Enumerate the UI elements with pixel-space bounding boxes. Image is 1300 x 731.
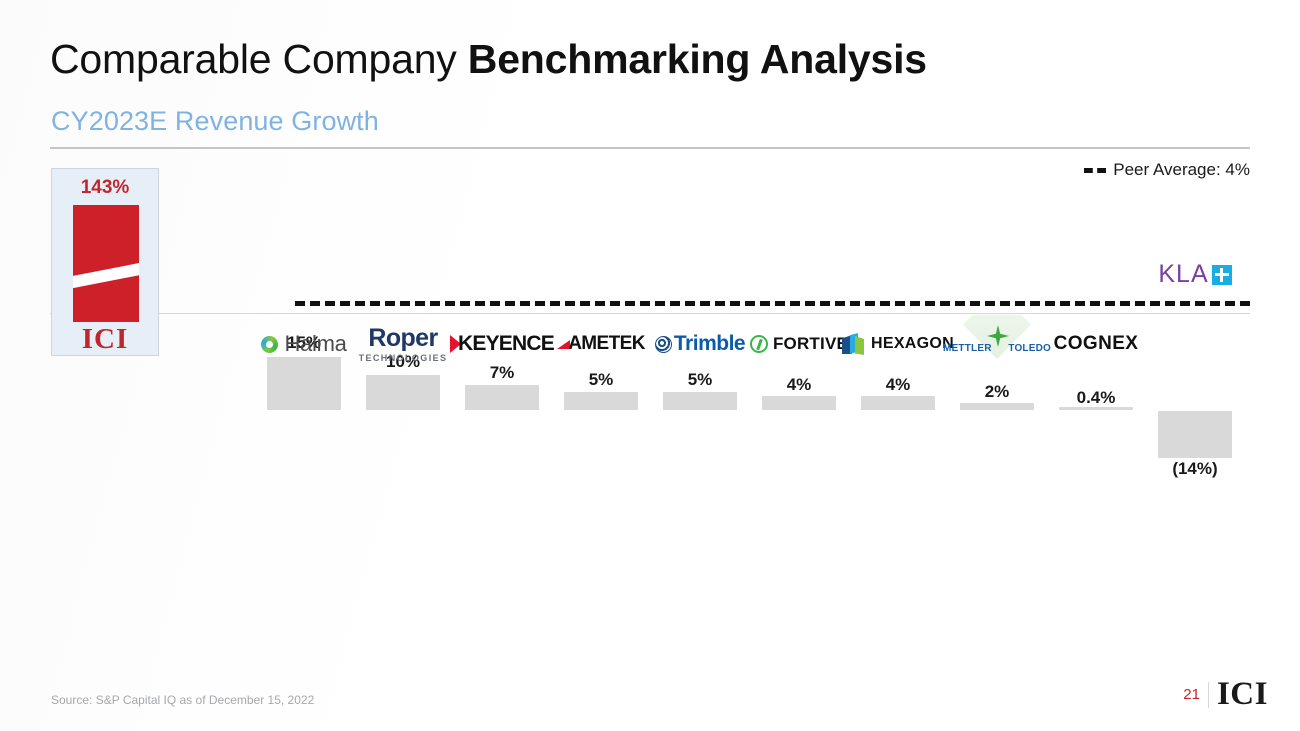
logo-roper: Roper TECHNOLOGIES (347, 315, 459, 373)
roper-wordmark: Roper (359, 326, 448, 351)
bar-value-trimble: 5% (663, 370, 737, 390)
halma-logo-icon: Halma (261, 331, 346, 357)
ametek-logo-icon: AMETEK (557, 333, 645, 355)
page-title: Comparable Company Benchmarking Analysis (50, 36, 927, 83)
bar-rect-keyence (465, 385, 539, 410)
logo-ametek: AMETEK (545, 315, 657, 373)
fortive-circle-icon (750, 335, 768, 353)
page-title-light: Comparable Company (50, 36, 468, 82)
logo-trimble: Trimble (644, 315, 756, 373)
bar-value-mettler: 2% (960, 382, 1034, 402)
trimble-wordmark: Trimble (674, 332, 745, 356)
roper-logo-icon: Roper TECHNOLOGIES (359, 326, 448, 363)
ametek-wordmark: AMETEK (568, 333, 645, 355)
kla-logo-icon: KLA (1158, 260, 1231, 289)
keyence-wordmark: KEYENCE (458, 332, 554, 356)
bar-rect-fortive (762, 396, 836, 410)
logo-halma: Halma (248, 315, 360, 373)
hexagon-shards-icon (842, 333, 864, 355)
logo-hexagon: HEXAGON (842, 315, 954, 373)
bar-rect-trimble (663, 392, 737, 410)
benchmarking-chart: Peer Average: 4% 143% ICI 15% 10% 7% 5% (50, 160, 1250, 410)
ici-wordmark: ICI (52, 323, 158, 356)
mettler-wordmark-1: METTLER (943, 343, 992, 354)
logo-mettler-toledo: METTLER TOLEDO (941, 310, 1053, 368)
footer-brand: 21 ICI (1183, 678, 1268, 711)
ici-diagonal-slash (73, 260, 139, 289)
bar-value-hexagon: 4% (861, 375, 935, 395)
fortive-logo-icon: FORTIVE (750, 334, 848, 354)
header-divider (50, 147, 1250, 149)
mettler-logo-icon: METTLER TOLEDO (943, 313, 1051, 365)
page-number: 21 (1183, 686, 1200, 703)
trimble-logo-icon: Trimble (655, 332, 745, 356)
halma-circle-icon (261, 336, 278, 353)
ici-value-label: 143% (52, 177, 158, 199)
peer-average-label: Peer Average: 4% (1113, 160, 1250, 180)
brand-separator (1208, 682, 1209, 708)
logo-cognex: COGNEX (1040, 315, 1152, 373)
slide-canvas: Comparable Company Benchmarking Analysis… (0, 0, 1300, 731)
kla-plus-icon (1212, 265, 1232, 285)
bar-rect-cognex (1059, 407, 1133, 410)
trimble-globe-icon (655, 336, 672, 353)
bar-value-fortive: 4% (762, 375, 836, 395)
roper-subtitle: TECHNOLOGIES (359, 354, 448, 363)
bar-rect-kla (1158, 411, 1232, 458)
keyence-logo-icon: KEYENCE (450, 332, 554, 356)
logo-keyence: KEYENCE (446, 315, 558, 373)
logo-fortive: FORTIVE (743, 315, 855, 373)
dashed-line-icon (1084, 168, 1106, 173)
ici-logo-mark (73, 205, 139, 322)
page-subtitle: CY2023E Revenue Growth (51, 106, 379, 137)
fortive-wordmark: FORTIVE (773, 334, 848, 354)
footer-logo-ici: ICI (1217, 678, 1268, 711)
bar-value-kla: (14%) (1158, 459, 1232, 479)
bar-value-cognex: 0.4% (1059, 388, 1133, 408)
ici-highlight-box: 143% ICI (51, 168, 159, 356)
logo-kla: KLA (1139, 260, 1251, 289)
cognex-wordmark: COGNEX (1054, 333, 1139, 355)
bar-rect-mettler (960, 403, 1034, 410)
peer-average-legend: Peer Average: 4% (1084, 160, 1250, 180)
bar-value-ametek: 5% (564, 370, 638, 390)
kla-wordmark: KLA (1158, 260, 1208, 289)
page-title-bold: Benchmarking Analysis (468, 36, 927, 82)
bar-rect-hexagon (861, 396, 935, 410)
bar-rect-roper (366, 375, 440, 410)
source-note: Source: S&P Capital IQ as of December 15… (51, 693, 314, 707)
halma-wordmark: Halma (284, 331, 346, 357)
hexagon-logo-icon: HEXAGON (842, 333, 954, 355)
bar-rect-ametek (564, 392, 638, 410)
